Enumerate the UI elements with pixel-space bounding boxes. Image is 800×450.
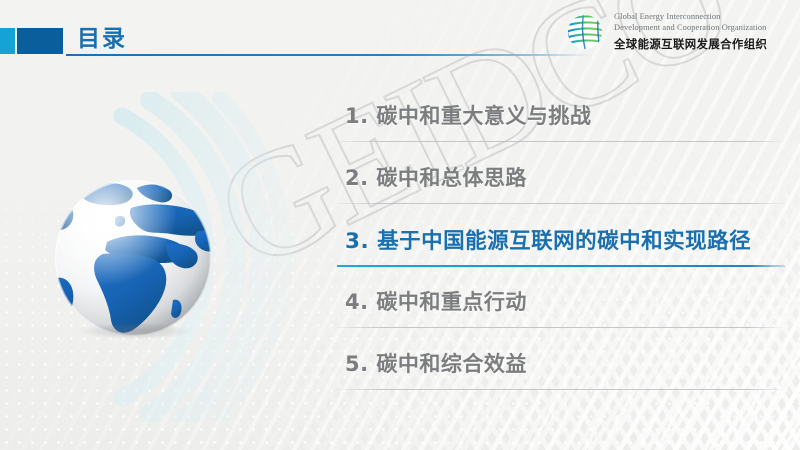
organization-logo: Global Energy Interconnection Developmen… bbox=[563, 8, 795, 56]
toc-item-2[interactable]: 2. 碳中和总体思路 bbox=[345, 154, 785, 216]
logo-chinese-line: 全球能源互联网发展合作组织 bbox=[614, 36, 767, 52]
logo-english-line-1: Global Energy Interconnection bbox=[614, 12, 767, 23]
toc-item-label: 3. 基于中国能源互联网的碳中和实现路径 bbox=[345, 224, 751, 255]
toc-item-3[interactable]: 3. 基于中国能源互联网的碳中和实现路径 bbox=[345, 216, 785, 278]
toc-item-label: 5. 碳中和综合效益 bbox=[345, 348, 527, 378]
table-of-contents: 1. 碳中和重大意义与挑战 2. 碳中和总体思路 3. 基于中国能源互联网的碳中… bbox=[345, 92, 785, 402]
presentation-slide: GEIDCO bbox=[0, 0, 800, 450]
toc-item-5[interactable]: 5. 碳中和综合效益 bbox=[345, 340, 785, 402]
toc-item-label: 1. 碳中和重大意义与挑战 bbox=[345, 100, 591, 130]
toc-item-divider bbox=[337, 203, 785, 204]
toc-item-divider bbox=[337, 389, 785, 390]
title-divider bbox=[66, 54, 592, 56]
globe-shadow bbox=[61, 320, 209, 342]
header-accent-tab-dark bbox=[17, 28, 63, 54]
toc-item-active-underline bbox=[337, 265, 785, 267]
toc-item-1[interactable]: 1. 碳中和重大意义与挑战 bbox=[345, 92, 785, 154]
header-accent-tab-light bbox=[0, 28, 15, 54]
toc-item-divider bbox=[337, 141, 785, 142]
toc-item-divider bbox=[337, 327, 785, 328]
toc-item-4[interactable]: 4. 碳中和重点行动 bbox=[345, 278, 785, 340]
logo-text-block: Global Energy Interconnection Developmen… bbox=[614, 12, 767, 51]
toc-item-label: 2. 碳中和总体思路 bbox=[345, 162, 527, 192]
geidco-globe-logo-icon bbox=[563, 10, 607, 54]
earth-globe-graphic bbox=[45, 172, 221, 348]
toc-item-label: 4. 碳中和重点行动 bbox=[345, 286, 527, 316]
page-title: 目录 bbox=[77, 19, 127, 53]
logo-english-line-2: Development and Cooperation Organization bbox=[614, 23, 767, 34]
